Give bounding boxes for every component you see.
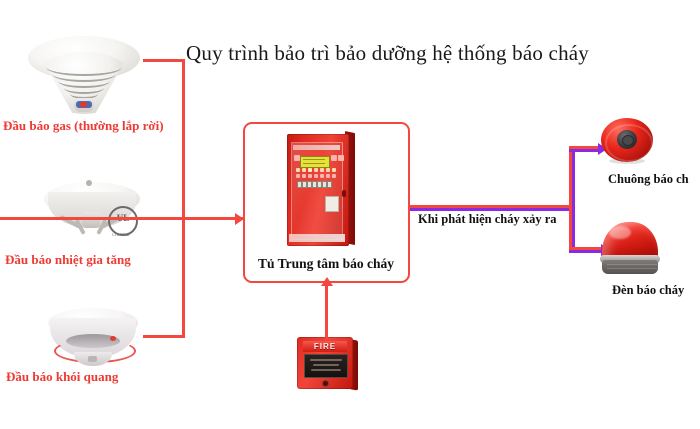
wire-output-trunk-purple	[410, 208, 572, 211]
strobe-light-image	[600, 222, 660, 278]
panel-body	[287, 134, 349, 246]
ul-listed-sublabel: LISTED	[107, 232, 135, 237]
page-title: Quy trình bảo trì bảo dưỡng hệ thống báo…	[186, 41, 656, 66]
alarm-bell-label: Chuông báo ch	[608, 172, 689, 187]
call-point-indicator	[322, 380, 329, 387]
wire-gas-to-bus	[143, 59, 185, 62]
fire-alarm-control-panel-image	[287, 131, 355, 249]
manual-call-point-image: FIRE	[297, 337, 359, 393]
alarm-bell-image	[601, 118, 653, 166]
call-point-instruction-plate	[304, 354, 348, 378]
wire-branch-bell-purple	[569, 149, 600, 152]
detector-screw	[86, 180, 92, 186]
wire-callpoint-to-panel	[325, 286, 328, 338]
wire-branch-strobe-purple	[569, 250, 603, 253]
gas-detector-image	[28, 36, 140, 116]
panel-lcd-display	[300, 156, 330, 168]
detector-test-button	[88, 356, 97, 362]
wire-riser-bell-purple	[572, 146, 575, 211]
gas-detector-label: Đầu báo gas (thường lắp rời)	[3, 118, 164, 134]
smoke-detector-label: Đầu báo khói quang	[6, 369, 118, 385]
panel-brand-strip	[293, 145, 340, 150]
strobe-highlight	[609, 226, 631, 239]
panel-lock	[342, 190, 346, 197]
wire-vertical-bus-top	[182, 59, 185, 221]
panel-base-strip	[289, 234, 345, 242]
strobe-light-label: Đèn báo cháy	[612, 283, 684, 298]
call-point-fire-label: FIRE	[303, 341, 347, 352]
bell-hub-center	[622, 135, 634, 146]
smoke-detector-image	[40, 306, 146, 372]
flow-label: Khi phát hiện cháy xảy ra	[418, 212, 557, 227]
panel-instruction-label	[325, 196, 339, 212]
strobe-base	[602, 260, 658, 274]
diagram-canvas: Quy trình bảo trì bảo dưỡng hệ thống báo…	[0, 0, 700, 429]
detector-led	[80, 102, 87, 107]
detector-thermistor	[82, 212, 100, 228]
wire-bus-to-panel	[0, 217, 243, 220]
wire-arrowhead-callpoint	[321, 277, 333, 286]
detector-led	[110, 336, 116, 341]
wire-smoke-to-bus	[143, 335, 185, 338]
wire-vertical-bus-bottom	[182, 218, 185, 338]
panel-keypad	[297, 181, 333, 186]
control-panel-label: Tủ Trung tâm báo cháy	[258, 256, 394, 272]
call-point-body: FIRE	[297, 337, 353, 389]
heat-detector-label: Đầu báo nhiệt gia tăng	[5, 252, 131, 268]
